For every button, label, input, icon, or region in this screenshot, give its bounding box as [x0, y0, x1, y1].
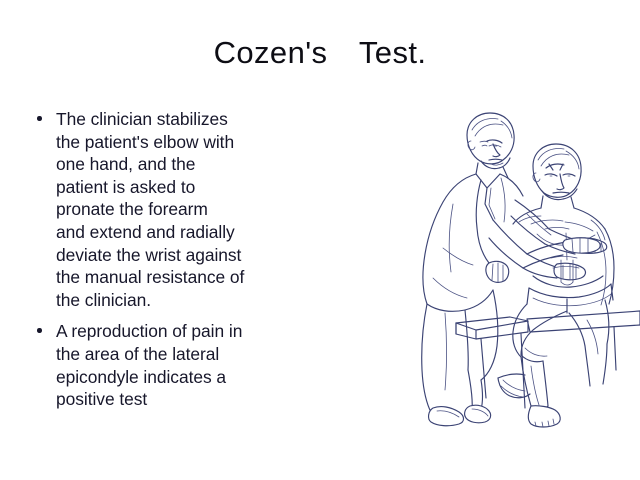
list-item: A reproduction of pain in the area of th… — [30, 320, 342, 410]
bullet-dot-icon — [37, 328, 42, 333]
list-item: The clinician stabilizes the patient's e… — [30, 108, 342, 311]
patient-figure — [498, 144, 614, 427]
treatment-bench — [456, 311, 640, 408]
bullet-list: The clinician stabilizes the patient's e… — [30, 108, 342, 411]
page-title: Cozen's Test. — [0, 33, 640, 73]
slide-canvas: Cozen's Test. The clinician stabilizes t… — [0, 0, 640, 480]
list-item-text: The clinician stabilizes the patient's e… — [56, 108, 342, 311]
cozens-test-illustration — [415, 108, 640, 433]
bullet-dot-icon — [37, 116, 42, 121]
list-item-text: A reproduction of pain in the area of th… — [56, 320, 342, 410]
